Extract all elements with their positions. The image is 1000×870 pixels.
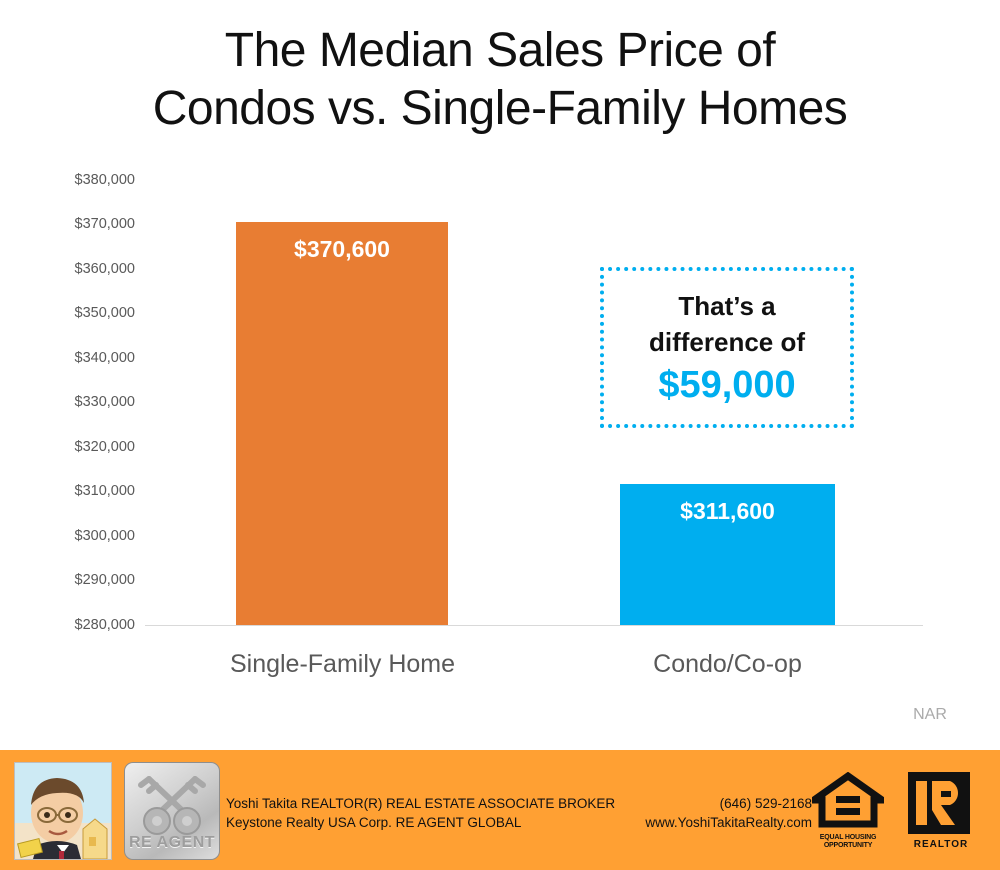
re-agent-logo-text: RE AGENT	[125, 834, 219, 852]
house-icon	[812, 772, 884, 832]
re-agent-logo: RE AGENT	[124, 762, 220, 860]
realtor-r-icon	[908, 772, 970, 834]
agent-brokerage-line: Keystone Realty USA Corp. RE AGENT GLOBA…	[226, 813, 615, 832]
callout-line-1: That’s a	[678, 288, 775, 324]
bar-value-label: $370,600	[236, 236, 448, 263]
realtor-logo: REALTOR	[908, 772, 974, 850]
x-axis-category-single-family-home: Single-Family Home	[200, 650, 485, 679]
eho-caption-line-2: OPPORTUNITY	[824, 842, 872, 849]
equal-housing-opportunity-logo: EQUAL HOUSING OPPORTUNITY	[812, 772, 884, 850]
realtor-caption: REALTOR	[908, 839, 974, 850]
agent-name-line: Yoshi Takita REALTOR(R) REAL ESTATE ASSO…	[226, 794, 615, 813]
bar-value-label: $311,600	[620, 498, 835, 525]
callout-amount: $59,000	[658, 362, 795, 408]
x-axis-category-condo-coop: Condo/Co-op	[590, 650, 865, 679]
source-label: NAR	[880, 706, 980, 724]
callout-line-2: difference of	[649, 324, 805, 360]
difference-callout: That’s a difference of $59,000	[600, 267, 854, 428]
agent-caricature-avatar	[14, 762, 112, 860]
agent-phone[interactable]: (646) 529-2168	[640, 794, 812, 813]
bar-single-family-home[interactable]: $370,600	[236, 222, 448, 625]
caricature-image	[15, 763, 111, 859]
agent-info: Yoshi Takita REALTOR(R) REAL ESTATE ASSO…	[226, 794, 615, 832]
agent-website[interactable]: www.YoshiTakitaRealty.com	[640, 813, 812, 832]
bar-condo-coop[interactable]: $311,600	[620, 484, 835, 625]
x-axis-line	[145, 625, 923, 626]
eho-caption-line-1: EQUAL HOUSING	[820, 834, 876, 841]
bar-chart: $380,000 $370,000 $360,000 $350,000 $340…	[0, 0, 1000, 750]
contact-info: (646) 529-2168 www.YoshiTakitaRealty.com	[640, 794, 812, 832]
footer-bar: RE AGENT Yoshi Takita REALTOR(R) REAL ES…	[0, 750, 1000, 870]
eho-caption: EQUAL HOUSING OPPORTUNITY	[812, 834, 884, 850]
